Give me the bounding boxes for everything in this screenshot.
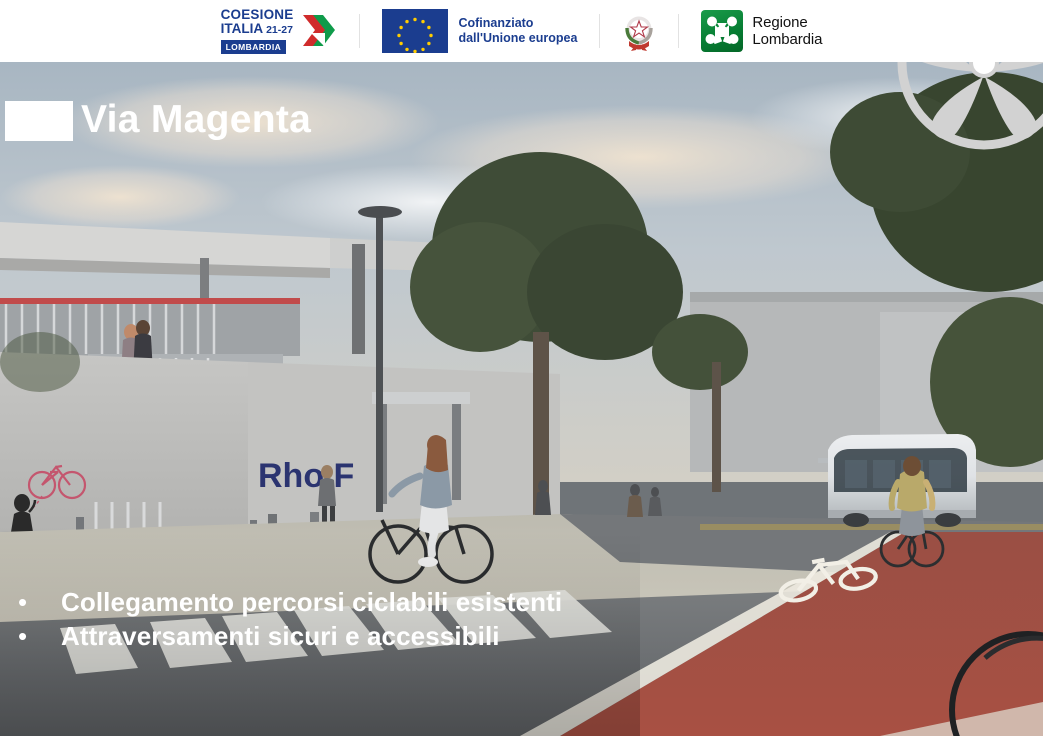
logo-unione-europea: Cofinanziato dall'Unione europea <box>382 8 577 54</box>
coesione-arrow-icon <box>297 11 337 51</box>
logo-coesione-italia: COESIONE ITALIA 21-27 LOMBARDIA <box>221 8 338 54</box>
bullet-marker-icon: • <box>8 620 61 653</box>
bullet-label: Collegamento percorsi ciclabili esistent… <box>61 586 562 619</box>
eu-text-line1: Cofinanziato <box>458 16 577 31</box>
repubblica-italiana-emblem-icon <box>622 10 656 52</box>
bullet-label: Attraversamenti sicuri e accessibili <box>61 620 500 653</box>
coesione-years: 21-27 <box>266 24 293 37</box>
logo-divider-3 <box>678 14 679 48</box>
title-accent-block <box>5 101 73 141</box>
station-sign: Rho F <box>258 457 354 495</box>
logo-repubblica-italiana <box>622 8 656 54</box>
logo-regione-lombardia: Regione Lombardia <box>701 8 822 54</box>
eu-flag-icon <box>382 9 448 53</box>
logo-divider-2 <box>599 14 600 48</box>
coesione-line2: ITALIA <box>221 22 264 35</box>
bullet-marker-icon: • <box>8 586 61 619</box>
coesione-region-badge: LOMBARDIA <box>221 40 287 54</box>
lombardia-line2: Lombardia <box>752 31 822 48</box>
list-item: • Collegamento percorsi ciclabili esiste… <box>8 586 628 619</box>
bullet-list: • Collegamento percorsi ciclabili esiste… <box>8 586 628 654</box>
lombardia-line1: Regione <box>752 14 822 31</box>
institutional-logo-bar: COESIONE ITALIA 21-27 LOMBARDIA <box>0 0 1043 62</box>
svg-text:Rho F: Rho F <box>258 457 354 495</box>
logo-divider-1 <box>359 14 360 48</box>
eu-text-line2: dall'Unione europea <box>458 31 577 46</box>
page-title: Via Magenta <box>81 97 311 143</box>
slide-root: Rho F <box>0 0 1043 736</box>
coesione-line1: COESIONE <box>221 8 294 21</box>
rosa-camuna-icon <box>701 10 743 52</box>
list-item: • Attraversamenti sicuri e accessibili <box>8 620 628 653</box>
